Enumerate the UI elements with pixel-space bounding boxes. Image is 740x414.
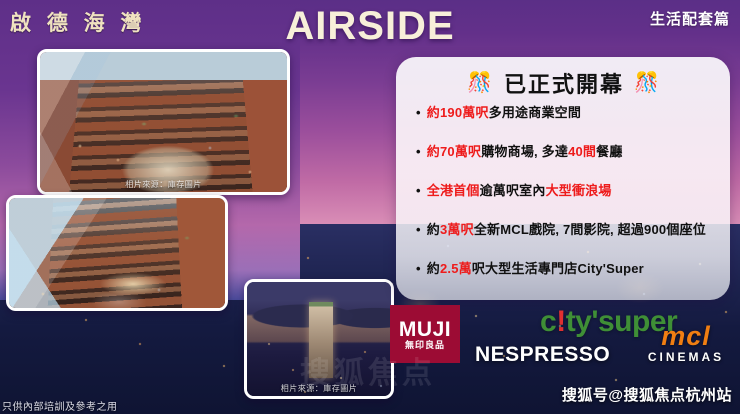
bullet-plain-segment: 約: [427, 261, 440, 276]
bullet-plain-segment: 購物商場, 多達: [481, 144, 568, 159]
bullet-highlight-segment: 3萬呎: [440, 222, 474, 237]
photo-tower-highlight: [309, 302, 333, 378]
panel-title: 🎊 已正式開幕 🎊: [412, 66, 716, 100]
bullet-highlight-segment: 40間: [568, 144, 596, 159]
confetti-icon-left: 🎊: [467, 73, 494, 93]
brand-mcl-sub: CINEMAS: [637, 350, 735, 366]
panel-title-text: 已正式開幕: [504, 67, 624, 99]
feature-bullet-text: 約2.5萬呎大型生活專門店City'Super: [427, 261, 644, 277]
bullet-highlight-segment: 大型衝浪場: [546, 183, 612, 198]
photo-mall-atrium-skylight: [6, 195, 228, 311]
photo-art: [9, 198, 225, 308]
brand-logo-mcl: mcl CINEMAS: [637, 323, 735, 366]
bullet-highlight-segment: 約70萬呎: [427, 144, 481, 159]
bullet-highlight-segment: 全港首個: [427, 183, 480, 198]
info-panel: 🎊 已正式開幕 🎊 •約190萬呎多用途商業空間•約70萬呎購物商場, 多達40…: [396, 57, 730, 300]
feature-bullet-item: •全港首個逾萬呎室內大型衝浪場: [412, 183, 716, 222]
photo-aerial-city-tower: 相片來源：庫存圖片: [244, 279, 394, 399]
bullet-highlight-segment: 2.5萬: [440, 261, 472, 276]
bullet-plain-segment: 全新MCL戲院, 7間影院, 超過900個座位: [474, 222, 706, 237]
brand-muji-mark: MUJI: [399, 319, 451, 340]
bullet-plain-segment: 逾萬呎室內: [480, 183, 546, 198]
slide-canvas: 啟 德 海 灣 AIRSIDE 生活配套篇 相片來源：庫存圖片 相片來源：庫存圖…: [0, 0, 740, 414]
watermark-sohu: 搜狐号@搜狐焦点杭州站: [562, 384, 732, 405]
brand-muji-sub: 無印良品: [405, 341, 445, 350]
feature-bullet-text: 約3萬呎全新MCL戲院, 7間影院, 超過900個座位: [427, 222, 706, 238]
photo-caption: 相片來源：庫存圖片: [40, 179, 287, 190]
photo-mall-atrium-terraces: 相片來源：庫存圖片: [37, 49, 290, 195]
feature-bullet-list: •約190萬呎多用途商業空間•約70萬呎購物商場, 多達40間餐廳•全港首個逾萬…: [412, 105, 716, 300]
photo-caption: 相片來源：庫存圖片: [247, 383, 391, 394]
brand-logo-muji: MUJI 無印良品: [390, 305, 460, 363]
brand-citysuper-i: !: [556, 305, 566, 338]
feature-bullet-item: •約2.5萬呎大型生活專門店City'Super: [412, 261, 716, 300]
feature-bullet-text: 全港首個逾萬呎室內大型衝浪場: [427, 183, 612, 199]
feature-bullet-item: •約70萬呎購物商場, 多達40間餐廳: [412, 144, 716, 183]
photo-art: [40, 52, 287, 192]
bullet-plain-segment: 餐廳: [596, 144, 622, 159]
feature-bullet-item: •約190萬呎多用途商業空間: [412, 105, 716, 144]
bullet-marker-icon: •: [416, 262, 421, 275]
section-label: 生活配套篇: [650, 8, 730, 29]
brand-logo-nespresso: NESPRESSO: [475, 343, 610, 367]
confetti-icon-right: 🎊: [634, 73, 661, 93]
feature-bullet-item: •約3萬呎全新MCL戲院, 7間影院, 超過900個座位: [412, 222, 716, 261]
footnote-internal-use: 只供內部培訓及參考之用: [2, 398, 118, 413]
bullet-plain-segment: 呎大型生活專門店City'Super: [472, 261, 644, 276]
brand-mcl-mark: mcl: [637, 323, 735, 350]
bullet-marker-icon: •: [416, 223, 421, 236]
brand-citysuper-c: c: [540, 305, 556, 338]
bullet-plain-segment: 多用途商業空間: [489, 105, 581, 120]
bullet-marker-icon: •: [416, 106, 421, 119]
bullet-highlight-segment: 約190萬呎: [427, 105, 489, 120]
feature-bullet-text: 約70萬呎購物商場, 多達40間餐廳: [427, 144, 623, 160]
bullet-marker-icon: •: [416, 184, 421, 197]
page-title: AIRSIDE: [0, 4, 740, 49]
feature-bullet-text: 約190萬呎多用途商業空間: [427, 105, 581, 121]
bullet-plain-segment: 約: [427, 222, 440, 237]
bullet-marker-icon: •: [416, 145, 421, 158]
